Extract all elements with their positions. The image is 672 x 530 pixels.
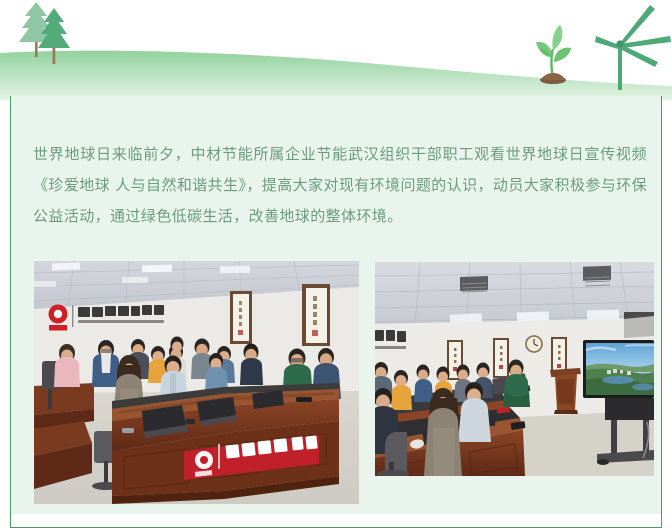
wind-turbine-icon [595, 5, 671, 90]
article-body-text: 世界地球日来临前夕，中材节能所属企业节能武汉组织干部职工观看世界地球日宣传视频《… [33, 139, 647, 232]
article-panel: 世界地球日来临前夕，中材节能所属企业节能武汉组织干部职工观看世界地球日宣传视频《… [10, 96, 662, 520]
wall-clock [526, 336, 542, 352]
wall-frame-b [493, 338, 509, 378]
panel-footer-strip [10, 514, 662, 528]
photo-meeting-room-front[interactable] [34, 261, 359, 504]
page-root: 世界地球日来临前夕，中材节能所属企业节能武汉组织干部职工观看世界地球日宣传视频《… [0, 0, 672, 530]
photo-meeting-room-screen[interactable] [375, 262, 654, 476]
eco-header-banner [0, 0, 672, 100]
wall-frame-2 [302, 284, 330, 346]
wall-logo-partial [375, 330, 406, 349]
seedling-sprout-icon [536, 25, 571, 84]
wall-frame-1 [230, 291, 252, 344]
photo-gallery [34, 261, 648, 506]
hill-shape [0, 51, 672, 100]
